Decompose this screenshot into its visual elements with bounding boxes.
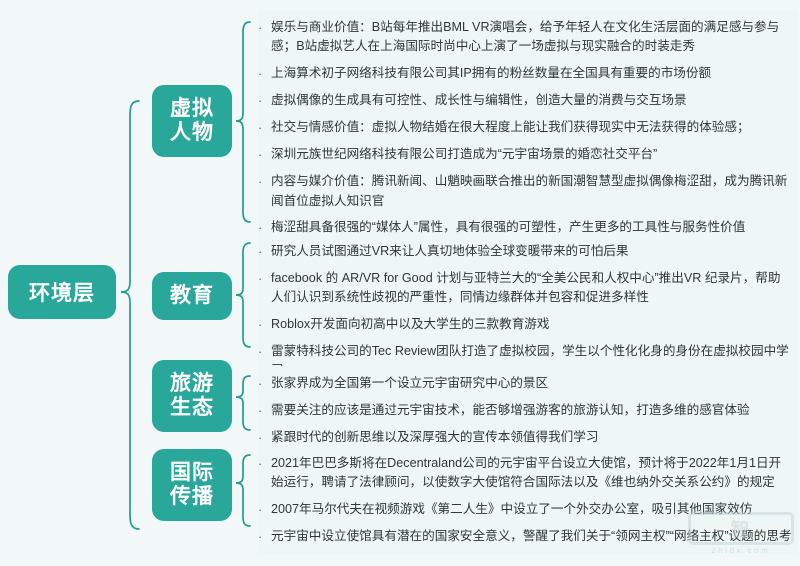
bullet-dot-icon: · [258, 454, 271, 474]
bullet-item: ·2007年马尔代夫在视频游戏《第二人生》中设立了一个外交办公室，吸引其他国家效… [258, 496, 796, 523]
bullet-dot-icon: · [258, 145, 271, 165]
category-node-label-line2: 传播 [170, 485, 214, 509]
category-node-education[interactable]: 教育 [152, 272, 232, 320]
brace-cat-0 [236, 22, 250, 222]
bullet-item: ·facebook 的 AR/VR for Good 计划与亚特兰大的“全美公民… [258, 265, 796, 311]
bullet-dot-icon: · [258, 428, 271, 448]
category-node-label-line1: 国际 [170, 461, 214, 485]
bullet-item-text: 内容与媒介价值：腾讯新闻、山魈映画联合推出的新国潮智慧型虚拟偶像梅涩甜，成为腾讯… [271, 172, 792, 211]
bullet-dot-icon: · [258, 269, 271, 289]
bullet-item: ·张家界成为全国第一个设立元宇宙研究中心的景区 [258, 370, 796, 397]
content-panel-virtual-character: ·娱乐与商业价值：B站每年推出BML VR演唱会，给予年轻人在文化生活层面的满足… [258, 10, 798, 246]
bullet-item: ·2021年巴巴多斯将在Decentraland公司的元宇宙平台设立大使馆，预计… [258, 450, 796, 496]
category-node-label-line2: 人物 [170, 121, 214, 145]
bullet-item-text: 元宇宙中设立使馆具有潜在的国家安全意义，警醒了我们关于“领网主权”“网络主权”议… [271, 527, 792, 547]
category-node-label-line2: 生态 [170, 396, 214, 420]
bullet-item-text: facebook 的 AR/VR for Good 计划与亚特兰大的“全美公民和… [271, 269, 792, 308]
bullet-item-text: 2007年马尔代夫在视频游戏《第二人生》中设立了一个外交办公室，吸引其他国家效仿 [271, 500, 792, 520]
bullet-item: ·上海算术初子网络科技有限公司其IP拥有的粉丝数量在全国具有重要的市场份额 [258, 60, 796, 87]
brace-cat-2 [236, 376, 250, 430]
category-node-tourism-ecology[interactable]: 旅游 生态 [152, 360, 232, 432]
bullet-item-text: 需要关注的应该是通过元宇宙技术，能否够增强游客的旅游认知，打造多维的感官体验 [271, 401, 792, 421]
bullet-item-text: 社交与情感价值：虚拟人物结婚在很大程度上能让我们获得现实中无法获得的体验感； [271, 118, 792, 138]
bullet-dot-icon: · [258, 500, 271, 520]
bullet-item-text: 2021年巴巴多斯将在Decentraland公司的元宇宙平台设立大使馆，预计将… [271, 454, 792, 493]
bullet-item: ·虚拟偶像的生成具有可控性、成长性与编辑性，创造大量的消费与交互场景 [258, 87, 796, 114]
category-node-international-communication[interactable]: 国际 传播 [152, 449, 232, 521]
brace-root [121, 101, 139, 529]
brace-cat-1 [236, 243, 250, 347]
bullet-item: ·元宇宙中设立使馆具有潜在的国家安全意义，警醒了我们关于“领网主权”“网络主权”… [258, 523, 796, 550]
bullet-item-text: Roblox开发面向初高中以及大学生的三款教育游戏 [271, 315, 792, 335]
bullet-item: ·社交与情感价值：虚拟人物结婚在很大程度上能让我们获得现实中无法获得的体验感； [258, 114, 796, 141]
bullet-item-text: 深圳元族世纪网络科技有限公司打造成为“元宇宙场景的婚恋社交平台” [271, 145, 792, 165]
bullet-item-text: 上海算术初子网络科技有限公司其IP拥有的粉丝数量在全国具有重要的市场份额 [271, 64, 792, 84]
mindmap-diagram: 环境层 虚拟 人物 教育 旅游 生态 国际 传播 ·娱乐与商业价值：B站每年推出… [0, 0, 800, 566]
brace-cat-3 [236, 455, 250, 526]
bullet-dot-icon: · [258, 118, 271, 138]
bullet-dot-icon: · [258, 18, 271, 38]
bullet-dot-icon: · [258, 64, 271, 84]
bullet-item: ·深圳元族世纪网络科技有限公司打造成为“元宇宙场景的婚恋社交平台” [258, 141, 796, 168]
bullet-dot-icon: · [258, 315, 271, 335]
bullet-dot-icon: · [258, 242, 271, 262]
content-panel-international-communication: ·2021年巴巴多斯将在Decentraland公司的元宇宙平台设立大使馆，预计… [258, 446, 798, 554]
bullet-item-text: 紧跟时代的创新思维以及深厚强大的宣传本领值得我们学习 [271, 428, 792, 448]
bullet-item-text: 娱乐与商业价值：B站每年推出BML VR演唱会，给予年轻人在文化生活层面的满足感… [271, 18, 792, 57]
category-node-label-line1: 旅游 [170, 372, 214, 396]
bullet-item: ·Roblox开发面向初高中以及大学生的三款教育游戏 [258, 311, 796, 338]
bullet-item: ·需要关注的应该是通过元宇宙技术，能否够增强游客的旅游认知，打造多维的感官体验 [258, 397, 796, 424]
bullet-item: ·内容与媒介价值：腾讯新闻、山魈映画联合推出的新国潮智慧型虚拟偶像梅涩甜，成为腾… [258, 169, 796, 215]
bullet-dot-icon: · [258, 374, 271, 394]
root-node[interactable]: 环境层 [8, 265, 116, 319]
bullet-dot-icon: · [258, 91, 271, 111]
category-node-label-line1: 虚拟 [170, 97, 214, 121]
root-node-label: 环境层 [29, 277, 95, 307]
content-panel-tourism-ecology: ·张家界成为全国第一个设立元宇宙研究中心的景区·需要关注的应该是通过元宇宙技术，… [258, 366, 798, 455]
bullet-dot-icon: · [258, 527, 271, 547]
category-node-virtual-character[interactable]: 虚拟 人物 [152, 85, 232, 157]
bullet-item-text: 张家界成为全国第一个设立元宇宙研究中心的景区 [271, 374, 792, 394]
bullet-item: ·研究人员试图通过VR来让人真切地体验全球变暖带来的可怕后果 [258, 238, 796, 265]
bullet-item-text: 研究人员试图通过VR来让人真切地体验全球变暖带来的可怕后果 [271, 242, 792, 262]
bullet-dot-icon: · [258, 172, 271, 192]
category-node-label-line1: 教育 [170, 284, 214, 308]
bullet-item: ·娱乐与商业价值：B站每年推出BML VR演唱会，给予年轻人在文化生活层面的满足… [258, 14, 796, 60]
bullet-dot-icon: · [258, 401, 271, 421]
bullet-dot-icon: · [258, 342, 271, 362]
bullet-item-text: 虚拟偶像的生成具有可控性、成长性与编辑性，创造大量的消费与交互场景 [271, 91, 792, 111]
